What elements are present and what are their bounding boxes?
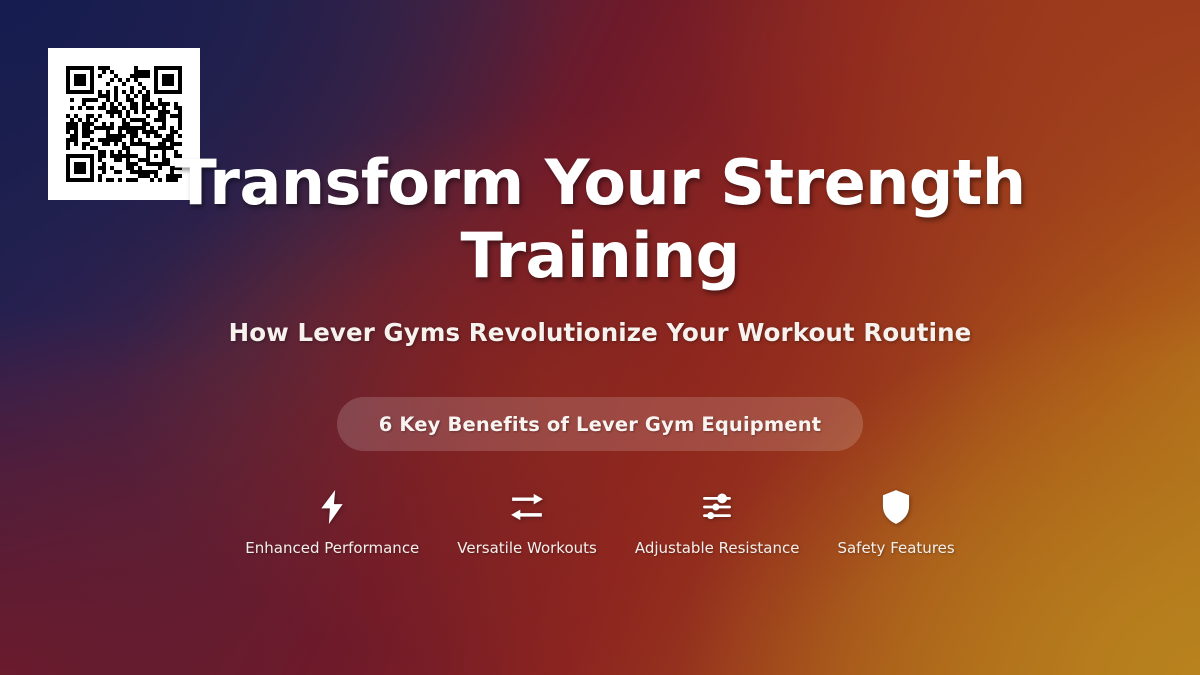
hero-banner: Transform Your Strength Training How Lev… [0,0,1200,675]
feature-item[interactable]: Adjustable Resistance [635,489,800,557]
page-subtitle: How Lever Gyms Revolutionize Your Workou… [229,318,972,347]
feature-item[interactable]: Enhanced Performance [245,489,419,557]
page-title: Transform Your Strength Training [160,146,1040,292]
feature-item[interactable]: Safety Features [837,489,954,557]
benefits-badge-label: 6 Key Benefits of Lever Gym Equipment [379,413,822,436]
hero-content: Transform Your Strength Training How Lev… [0,0,1200,557]
feature-label: Versatile Workouts [457,539,597,557]
benefits-badge[interactable]: 6 Key Benefits of Lever Gym Equipment [337,397,864,451]
shield-icon [882,489,910,525]
feature-list: Enhanced PerformanceVersatile WorkoutsAd… [245,489,954,557]
lightning-bolt-icon [317,489,347,525]
feature-label: Adjustable Resistance [635,539,800,557]
feature-label: Safety Features [837,539,954,557]
feature-label: Enhanced Performance [245,539,419,557]
swap-arrows-icon [510,489,544,525]
feature-item[interactable]: Versatile Workouts [457,489,597,557]
sliders-icon [701,489,733,525]
